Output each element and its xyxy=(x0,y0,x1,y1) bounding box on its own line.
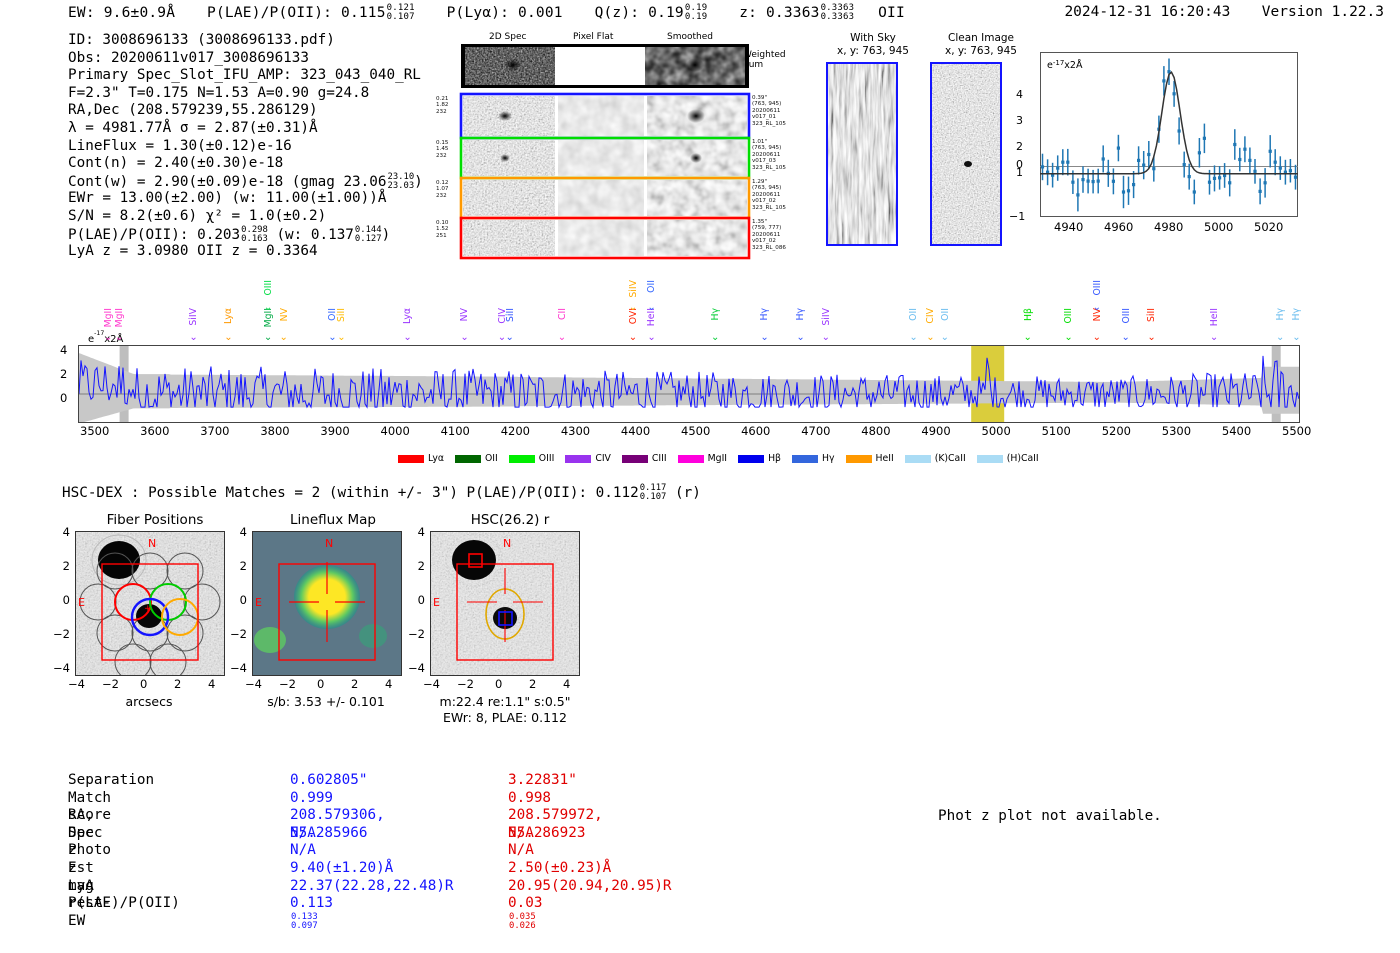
spectrum-line-bracket: ⌄ xyxy=(189,332,197,343)
panel-xtick: 0 xyxy=(317,677,324,691)
legend-swatch xyxy=(905,455,931,463)
spectrum-line-label: SiII xyxy=(1146,308,1157,322)
panel-xtick: 2 xyxy=(529,677,536,691)
spectrum-xtick: 4400 xyxy=(621,424,650,438)
spectrum-line-bracket: ⌄ xyxy=(506,332,514,343)
spectrum-line-label: Hβ xyxy=(1023,308,1034,321)
spectrum-xtick: 3500 xyxy=(80,424,109,438)
info-plae: P(LAE)/P(OII): 0.2030.2980.163 (w: 0.137… xyxy=(68,226,423,244)
match-row-value-2: N/A xyxy=(508,825,534,843)
spectrum-line-bracket: ⌄ xyxy=(337,332,345,343)
panel-xtick: −2 xyxy=(279,677,296,691)
spectrum-line-bracket: ⌄ xyxy=(711,332,719,343)
legend-label: OIII xyxy=(539,453,555,464)
spectrum-xtick: 3900 xyxy=(320,424,349,438)
header-z: z: 0.3363 xyxy=(739,5,819,21)
panel-ytick: 0 xyxy=(240,593,247,607)
hsc-dex-plae-range: 0.1170.107 xyxy=(640,484,667,502)
match-row-value-2: 3.22831" xyxy=(508,772,577,790)
hsc-r-title: HSC(26.2) r xyxy=(415,512,605,528)
spectrum-line-label: OIII xyxy=(263,280,274,296)
legend-item: HeII xyxy=(846,453,894,464)
spectrum-line-bracket: ⌄ xyxy=(941,332,949,343)
panel-xtick: 0 xyxy=(495,677,502,691)
source-info-block: ID: 3008696133 (3008696133.pdf) Obs: 202… xyxy=(68,32,423,261)
legend-item: Lyα xyxy=(398,453,444,464)
with-sky-cutout xyxy=(826,62,898,246)
emission-line-ytick-0: 0 xyxy=(1016,158,1023,171)
spectrum-line-label: CII xyxy=(557,308,568,320)
spectrum-line-bracket: ⌄ xyxy=(460,332,468,343)
spec2d-row-meta-0: 0.39"(763, 945)20200611v017_01323_RL_105 xyxy=(752,95,786,127)
spectrum-xtick: 4900 xyxy=(921,424,950,438)
lineflux-map-compass-n: N xyxy=(325,537,333,550)
spectrum-line-bracket: ⌄ xyxy=(328,332,336,343)
spectrum-line-bracket: ⌄ xyxy=(224,332,232,343)
spectrum-line-bracket: ⌄ xyxy=(760,332,768,343)
hsc-r-image xyxy=(431,532,579,675)
legend-label: OII xyxy=(485,453,498,464)
spectrum-line-bracket: ⌄ xyxy=(1147,332,1155,343)
legend-item: (K)CaII xyxy=(905,453,966,464)
spectrum-xtick: 3700 xyxy=(200,424,229,438)
full-spectrum-svg xyxy=(79,346,1299,422)
spectrum-line-bracket: ⌄ xyxy=(498,332,506,343)
fiber-positions-compass-e: E xyxy=(78,596,85,609)
header-z-class: OII xyxy=(878,5,905,21)
spectrum-line-label: NV xyxy=(459,308,470,321)
spectrum-line-label: Lyα xyxy=(223,308,234,324)
spectrum-line-label: OII xyxy=(646,280,657,293)
lineflux-map-compass-e: E xyxy=(255,596,262,609)
spec2d-row-left-3: 0.101.52251 xyxy=(436,220,448,239)
lineflux-map-caption: s/b: 3.53 +/- 0.101 xyxy=(242,694,410,709)
spectrum-line-label: Hγ xyxy=(1275,308,1286,321)
spectrum-xtick: 4100 xyxy=(441,424,470,438)
lineflux-map-title: Lineflux Map xyxy=(238,512,428,528)
spectrum-line-label: SiII xyxy=(336,308,347,322)
match-row-value-1: 9.40(±1.20)Å xyxy=(290,860,393,878)
spectrum-line-bracket: ⌄ xyxy=(796,332,804,343)
spec2d-row-meta-3: 1.35"(759, 777)20200611v017_02323_RL_086 xyxy=(752,219,786,251)
match-row-value-2: 0.030.0350.026 xyxy=(508,895,542,931)
match-row-value-1: 0.1130.1330.097 xyxy=(290,895,333,931)
spectrum-xtick: 4200 xyxy=(501,424,530,438)
legend-item: CIV xyxy=(565,453,611,464)
spectrum-line-bracket: ⌄ xyxy=(1064,332,1072,343)
match-row-key: mag xyxy=(68,878,94,896)
spectrum-line-bracket: ⌄ xyxy=(104,332,112,343)
info-lambda-sigma: λ = 4981.77Å σ = 2.87(±0.31)Å xyxy=(68,120,423,138)
full-spectrum-yticks: 4 2 0 xyxy=(58,340,76,430)
spectrum-line-label: HeII xyxy=(1209,308,1220,326)
fiber-positions-compass-n: N xyxy=(148,537,156,550)
spectrum-line-bracket: ⌄ xyxy=(822,332,830,343)
legend-label: CIV xyxy=(595,453,611,464)
spectrum-line-bracket: ⌄ xyxy=(280,332,288,343)
panel-ytick: 4 xyxy=(240,525,247,539)
legend-swatch xyxy=(622,455,648,463)
info-redshifts: LyA z = 3.0980 OII z = 0.3364 xyxy=(68,243,423,261)
match-row-value-2: 20.95(20.94,20.95)R xyxy=(508,878,672,896)
spectrum-line-label: MgII xyxy=(103,308,114,327)
info-lineflux: LineFlux = 1.30(±0.12)e-16 xyxy=(68,138,423,156)
clean-image-title: Clean Imagex, y: 763, 945 xyxy=(922,32,1040,57)
panel-ytick: 2 xyxy=(418,559,425,573)
version-label: Version 1.22.3 xyxy=(1262,4,1384,20)
header-qz-range: 0.190.19 xyxy=(685,4,707,22)
legend-swatch xyxy=(509,455,535,463)
full-spectrum-plot xyxy=(78,345,1300,423)
hsc-r-caption-1: m:22.4 re:1.1" s:0.5" xyxy=(418,694,592,709)
spectrum-line-bracket: ⌄ xyxy=(647,302,655,313)
spectrum-xtick: 3800 xyxy=(260,424,289,438)
spec2d-row-left-2: 0.121.07232 xyxy=(436,180,448,199)
info-primary-spec: Primary Spec_Slot_IFU_AMP: 323_043_040_R… xyxy=(68,67,423,85)
match-row-value-1: 0.602805" xyxy=(290,772,367,790)
header-plae-value: 0.115 xyxy=(341,5,386,21)
phot-z-message: Phot z plot not available. xyxy=(938,808,1162,824)
legend-item: MgII xyxy=(678,453,727,464)
spectrum-xtick: 3600 xyxy=(140,424,169,438)
legend-item: OII xyxy=(455,453,498,464)
spectrum-line-label: OIII xyxy=(1063,308,1074,324)
clean-image-cutout xyxy=(930,62,1002,246)
match-row-value-1: 0.999 xyxy=(290,790,333,808)
clean-image-image xyxy=(932,64,1000,244)
match-row-key: Separation xyxy=(68,772,154,790)
hsc-r-yticks: 420−2−4 xyxy=(407,531,427,674)
panel-ytick: −2 xyxy=(230,627,247,641)
panel-ytick: 2 xyxy=(63,559,70,573)
panel-xtick: 4 xyxy=(208,677,215,691)
legend-label: MgII xyxy=(708,453,727,464)
panel-ytick: −4 xyxy=(230,661,247,675)
info-ewr: EWr = 13.00(±2.00) (w: 11.00(±1.00))Å xyxy=(68,190,423,208)
spectrum-xtick: 4300 xyxy=(561,424,590,438)
hsc-r-caption-2: EWr: 8, PLAE: 0.112 xyxy=(418,710,592,725)
hsc-r-axes xyxy=(430,531,580,676)
panel-xtick: 4 xyxy=(563,677,570,691)
legend-label: Lyα xyxy=(428,453,444,464)
spectrum-line-label: Lyα xyxy=(402,308,413,324)
spectrum-legend: LyαOIIOIIICIVCIIIMgIIHβHγHeII(K)CaII(H)C… xyxy=(398,453,1039,464)
panel-ytick: −4 xyxy=(53,661,70,675)
hsc-r-xticks: −4−2024 xyxy=(430,677,578,693)
spectrum-xtick: 5000 xyxy=(982,424,1011,438)
hsc-dex-filter: (r) xyxy=(675,485,701,501)
legend-item: CIII xyxy=(622,453,667,464)
panel-xtick: −4 xyxy=(68,677,85,691)
lineflux-map-image xyxy=(253,532,401,675)
spectrum-line-label: OII xyxy=(940,308,951,321)
panel-ytick: 0 xyxy=(63,593,70,607)
spectrum-line-label: Hγ xyxy=(759,308,770,321)
legend-label: CIII xyxy=(652,453,667,464)
spec2d-row-meta-1: 1.01"(763, 945)20200611v017_03323_RL_105 xyxy=(752,139,786,171)
svg-text:+: + xyxy=(144,604,152,614)
lineflux-map-axes xyxy=(252,531,402,676)
spectrum-line-label: SiIV xyxy=(628,280,639,298)
header-summary-line: EW: 9.6±0.9Å P(LAE)/P(OII): 0.1150.1210.… xyxy=(68,4,905,22)
spectrum-line-bracket: ⌄ xyxy=(629,302,637,313)
legend-swatch xyxy=(792,455,818,463)
panel-ytick: −2 xyxy=(53,627,70,641)
panel-ytick: 2 xyxy=(240,559,247,573)
info-cont-n: Cont(n) = 2.40(±0.30)e-18 xyxy=(68,155,423,173)
panel-xtick: 4 xyxy=(385,677,392,691)
spectrum-line-label: CIV xyxy=(925,308,936,324)
match-row-value-1: 22.37(22.28,22.48)R xyxy=(290,878,454,896)
hsc-r-compass-e: E xyxy=(433,596,440,609)
spectrum-xtick: 4600 xyxy=(741,424,770,438)
panel-xtick: −2 xyxy=(457,677,474,691)
spectrum-line-bracket: ⌄ xyxy=(1210,332,1218,343)
legend-label: (K)CaII xyxy=(935,453,966,464)
header-plya: P(Lyα): 0.001 xyxy=(447,5,563,21)
panel-ytick: 4 xyxy=(63,525,70,539)
match-row-value-2: N/A xyxy=(508,842,534,860)
svg-text:e-17x2Å: e-17x2Å xyxy=(1047,59,1083,71)
spectrum-line-bracket: ⌄ xyxy=(1093,332,1101,343)
spectrum-line-bracket: ⌄ xyxy=(909,332,917,343)
spectrum-line-label: Hγ xyxy=(710,308,721,321)
spec2d-row-left-1: 0.151.45232 xyxy=(436,140,448,159)
fiber-positions-xlabel: arcsecs xyxy=(75,694,223,709)
info-cont-w: Cont(w) = 2.90(±0.09)e-18 (gmag 23.0623.… xyxy=(68,173,423,191)
spectrum-line-bracket: ⌄ xyxy=(1122,332,1130,343)
legend-swatch xyxy=(398,455,424,463)
header-plae-range: 0.1210.107 xyxy=(387,4,415,22)
spectrum-line-label: OIII xyxy=(1092,280,1103,296)
spectrum-line-bracket: ⌄ xyxy=(1093,302,1101,313)
header-plae-label: P(LAE)/P(OII): xyxy=(207,5,332,21)
panel-ytick: −4 xyxy=(408,661,425,675)
match-row-key: P(LAE)/P(OII) xyxy=(68,895,180,913)
lineflux-map-xticks: −4−2024 xyxy=(252,677,400,693)
panel-xtick: −2 xyxy=(102,677,119,691)
legend-label: HeII xyxy=(876,453,894,464)
fiber-positions-yticks: 420−2−4 xyxy=(52,531,72,674)
spec2d-panel: 2D Spec Pixel Flat Smoothed WeightedSum xyxy=(455,32,810,260)
legend-label: Hγ xyxy=(822,453,835,464)
spectrum-line-bracket: ⌄ xyxy=(558,332,566,343)
spectrum-line-label: SiIV xyxy=(188,308,199,326)
spectrum-line-label: Hγ xyxy=(1291,308,1302,321)
with-sky-image xyxy=(828,64,896,244)
legend-item: Hγ xyxy=(792,453,835,464)
spectrum-xtick: 4700 xyxy=(801,424,830,438)
spectrum-xtick: 5200 xyxy=(1102,424,1131,438)
legend-item: (H)CaII xyxy=(977,453,1039,464)
legend-item: Hβ xyxy=(738,453,781,464)
info-radec: RA,Dec (208.579239,55.286129) xyxy=(68,102,423,120)
panel-ytick: −2 xyxy=(408,627,425,641)
emission-line-xticks: 4940 4960 4980 5000 5020 xyxy=(1040,220,1298,236)
full-spectrum-line-labels: MgII⌄MgII⌄SiIV⌄Lyα⌄MgII⌄OIII⌄NV⌄OII⌄SiII… xyxy=(78,280,1298,346)
spectrum-line-bracket: ⌄ xyxy=(115,332,123,343)
with-sky-title: With Skyx, y: 763, 945 xyxy=(818,32,928,57)
panel-xtick: 2 xyxy=(174,677,181,691)
hsc-dex-text: HSC-DEX : Possible Matches = 2 (within +… xyxy=(62,485,639,501)
legend-label: (H)CaII xyxy=(1007,453,1039,464)
spectrum-line-bracket: ⌄ xyxy=(1276,332,1284,343)
emission-line-plot: e-17x2Å xyxy=(1040,52,1298,217)
panel-xtick: 2 xyxy=(351,677,358,691)
spectrum-xtick: 5400 xyxy=(1222,424,1251,438)
spectrum-xtick: 4800 xyxy=(861,424,890,438)
spectrum-xtick: 5500 xyxy=(1282,424,1311,438)
spectrum-line-label: Hγ xyxy=(795,308,806,321)
spectrum-xtick: 5300 xyxy=(1162,424,1191,438)
spectrum-line-label: NV xyxy=(279,308,290,321)
spectrum-line-label: SiIV xyxy=(821,308,832,326)
info-seeing: F=2.3" T=0.175 N=1.53 A=0.90 g=24.8 xyxy=(68,85,423,103)
legend-label: Hβ xyxy=(768,453,781,464)
panel-ytick: 0 xyxy=(418,593,425,607)
legend-item: OIII xyxy=(509,453,555,464)
legend-swatch xyxy=(738,455,764,463)
info-obs: Obs: 20200611v017_3008696133 xyxy=(68,50,423,68)
panel-xtick: −4 xyxy=(423,677,440,691)
spectrum-line-bracket: ⌄ xyxy=(926,332,934,343)
hsc-r-compass-n: N xyxy=(503,537,511,550)
header-z-range: 0.33630.3363 xyxy=(821,4,855,22)
timestamp: 2024-12-31 16:20:43 xyxy=(1064,4,1230,20)
spectrum-line-bracket: ⌄ xyxy=(1024,332,1032,343)
legend-swatch xyxy=(678,455,704,463)
spectrum-xtick: 4000 xyxy=(381,424,410,438)
timestamp-version: 2024-12-31 16:20:43 Version 1.22.3 xyxy=(1064,4,1384,20)
hsc-dex-summary: HSC-DEX : Possible Matches = 2 (within +… xyxy=(62,484,701,502)
info-id: ID: 3008696133 (3008696133.pdf) xyxy=(68,32,423,50)
header-qz: Q(z): 0.19 xyxy=(595,5,684,21)
emission-line-plot-svg: e-17x2Å xyxy=(1040,52,1298,217)
fiber-positions-xticks: −4−2024 xyxy=(75,677,223,693)
spectrum-line-label: OIII xyxy=(1121,308,1132,324)
fiber-positions-axes: + xyxy=(75,531,225,676)
spectrum-line-bracket: ⌄ xyxy=(403,332,411,343)
match-row-value-2: 0.998 xyxy=(508,790,551,808)
legend-swatch xyxy=(455,455,481,463)
panel-ytick: 4 xyxy=(418,525,425,539)
spectrum-line-label: OII xyxy=(908,308,919,321)
full-spectrum-xticks: 3500360037003800390040004100420043004400… xyxy=(78,424,1298,442)
spectrum-xtick: 5100 xyxy=(1042,424,1071,438)
spectrum-line-label: MgII xyxy=(114,308,125,327)
spec2d-row-left-0: 0.211.82232 xyxy=(436,96,448,115)
spectrum-line-bracket: ⌄ xyxy=(1292,332,1300,343)
match-row-value-2: 2.50(±0.23)Å xyxy=(508,860,611,878)
spectrum-line-label: CIV xyxy=(497,308,508,324)
info-sn-chi2: S/N = 8.2(±0.6) χ² = 1.0(±0.2) xyxy=(68,208,423,226)
panel-xtick: 0 xyxy=(140,677,147,691)
legend-swatch xyxy=(977,455,1003,463)
match-row-value-1: N/A xyxy=(290,842,316,860)
fiber-positions-image: + xyxy=(76,532,224,675)
lineflux-map-yticks: 420−2−4 xyxy=(229,531,249,674)
match-row-value-1: N/A xyxy=(290,825,316,843)
panel-xtick: −4 xyxy=(245,677,262,691)
legend-swatch xyxy=(846,455,872,463)
spectrum-xtick: 4500 xyxy=(681,424,710,438)
fiber-positions-title: Fiber Positions xyxy=(60,512,250,528)
emission-line-ytick-neg1: −1 xyxy=(1009,210,1025,223)
header-ew: EW: 9.6±0.9Å xyxy=(68,5,175,21)
spec2d-row-meta-2: 1.29"(763, 945)20200611v017_02323_RL_105 xyxy=(752,179,786,211)
spectrum-line-bracket: ⌄ xyxy=(264,332,272,343)
legend-swatch xyxy=(565,455,591,463)
spectrum-line-bracket: ⌄ xyxy=(647,332,655,343)
spectrum-line-bracket: ⌄ xyxy=(264,302,272,313)
spectrum-line-bracket: ⌄ xyxy=(629,332,637,343)
